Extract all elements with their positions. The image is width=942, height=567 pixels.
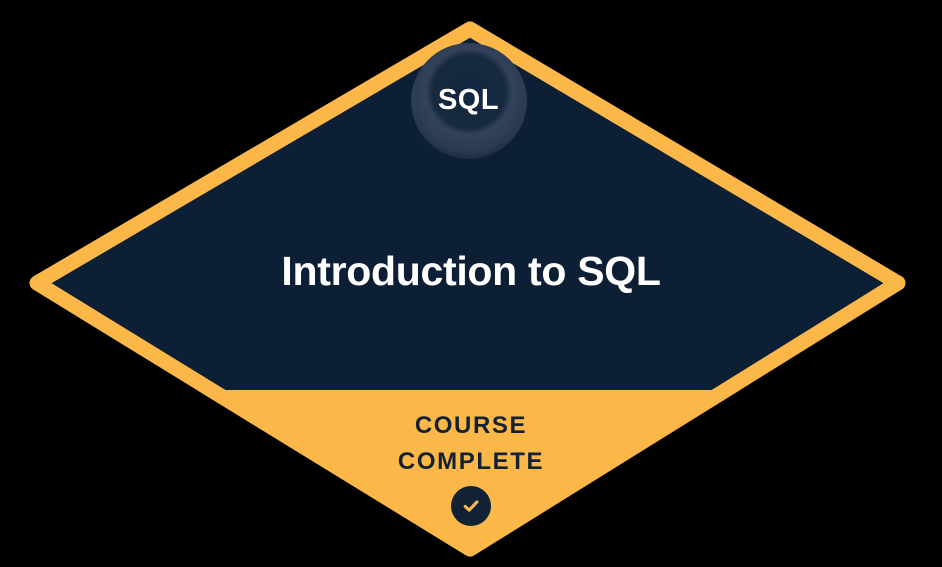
course-completion-badge: SQL Introduction to SQL COURSE COMPLETE bbox=[0, 0, 942, 567]
badge-diamond-shape bbox=[0, 0, 942, 567]
sql-emblem-ring bbox=[411, 43, 527, 159]
